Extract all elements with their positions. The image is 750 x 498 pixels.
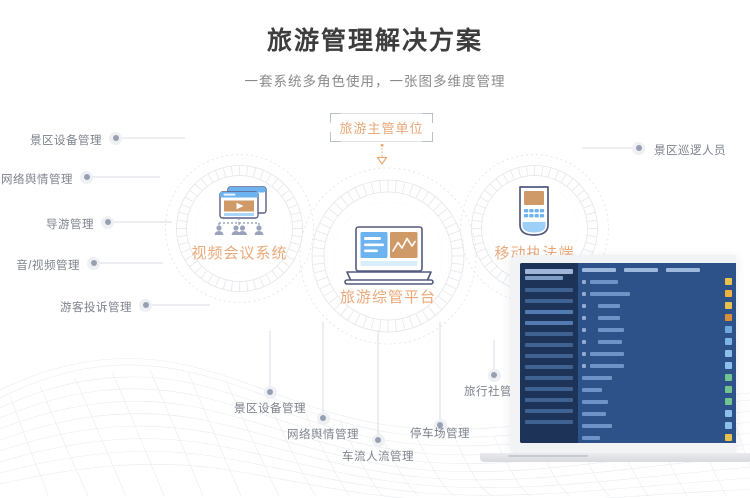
connector-dot bbox=[87, 257, 100, 270]
dashboard-menu-item bbox=[525, 299, 573, 303]
dashboard-tab bbox=[624, 268, 658, 272]
dashboard-menu-item bbox=[525, 409, 573, 413]
connector-dot bbox=[80, 171, 93, 184]
dashboard-row bbox=[582, 398, 732, 405]
dashboard-menu-item bbox=[525, 398, 573, 402]
dashboard-menu-item bbox=[525, 376, 573, 380]
dashboard-sidebar bbox=[520, 263, 578, 443]
left-label-item: 游客投诉管理 bbox=[0, 299, 132, 315]
left-label-item: 导游管理 bbox=[0, 216, 94, 232]
dashboard-row bbox=[582, 314, 732, 321]
authority-label: 旅游主管单位 bbox=[330, 113, 433, 142]
dashboard-menu-item bbox=[525, 321, 573, 325]
dashboard-row bbox=[582, 362, 732, 369]
dashboard-brand bbox=[525, 269, 573, 274]
connector-dot bbox=[317, 412, 330, 425]
dashboard-row bbox=[582, 410, 732, 417]
laptop-base bbox=[480, 453, 750, 462]
dashboard-row bbox=[582, 290, 732, 297]
left-label-item: 景区设备管理 bbox=[0, 132, 102, 148]
dashboard-row bbox=[582, 422, 732, 429]
page-header: 旅游管理解决方案 一套系统多角色使用，一张图多维度管理 bbox=[0, 0, 750, 90]
dotted-down-arrow-icon bbox=[370, 144, 394, 168]
dashboard-topbar bbox=[582, 268, 732, 272]
dashboard-tab bbox=[582, 268, 616, 272]
dashboard-menu-item bbox=[525, 354, 573, 358]
dashboard-menu-item bbox=[525, 332, 573, 336]
dashboard-row bbox=[582, 386, 732, 393]
mobile-terminal-icon bbox=[505, 183, 563, 241]
dashboard-row bbox=[582, 338, 732, 345]
right-label-item: 景区巡逻人员 bbox=[654, 142, 726, 158]
authority-box[interactable]: 旅游主管单位 bbox=[330, 113, 433, 142]
dashboard-menu-item bbox=[525, 365, 573, 369]
dashboard-content bbox=[578, 263, 736, 443]
left-label-item: 网络舆情管理 bbox=[0, 171, 73, 187]
dashboard-row bbox=[582, 302, 732, 309]
connector-dot bbox=[101, 216, 114, 229]
dashboard-menu-item bbox=[525, 288, 573, 292]
left-label-item: 音/视频管理 bbox=[0, 257, 80, 273]
dashboard-row bbox=[582, 326, 732, 333]
dashboard-row bbox=[582, 434, 732, 441]
dashboard-row bbox=[582, 350, 732, 357]
dashboard-menu-item bbox=[525, 387, 573, 391]
node-label-platform: 旅游综管平台 bbox=[297, 286, 479, 307]
dashboard-preview bbox=[520, 263, 736, 443]
bottom-label-item: 停车场管理 bbox=[398, 425, 482, 441]
dashboard-menu-item bbox=[525, 420, 573, 424]
dashboard-brand-sub bbox=[525, 276, 563, 280]
dashboard-menu-item bbox=[525, 310, 573, 314]
connector-dot bbox=[109, 132, 122, 145]
node-label-video-conference: 视频会议系统 bbox=[163, 242, 316, 263]
page-title: 旅游管理解决方案 bbox=[0, 26, 750, 56]
bottom-label-item: 车流人流管理 bbox=[336, 448, 420, 464]
solution-diagram-page: 旅游管理解决方案 一套系统多角色使用，一张图多维度管理 bbox=[0, 0, 750, 498]
dashboard-tab bbox=[666, 268, 700, 272]
connector-dot bbox=[139, 299, 152, 312]
connector-dot bbox=[632, 142, 645, 155]
dashboard-row bbox=[582, 278, 732, 285]
laptop-mockup bbox=[480, 255, 750, 465]
bottom-label-item: 网络舆情管理 bbox=[281, 426, 365, 442]
connector-dot bbox=[372, 434, 385, 447]
connector-dot bbox=[264, 386, 277, 399]
dashboard-row bbox=[582, 374, 732, 381]
laptop-screen bbox=[510, 255, 736, 453]
laptop-dashboard-icon bbox=[341, 225, 437, 287]
video-conference-icon bbox=[206, 184, 274, 236]
bottom-label-item: 景区设备管理 bbox=[228, 400, 312, 416]
dashboard-menu-item bbox=[525, 343, 573, 347]
page-subtitle: 一套系统多角色使用，一张图多维度管理 bbox=[0, 70, 750, 90]
